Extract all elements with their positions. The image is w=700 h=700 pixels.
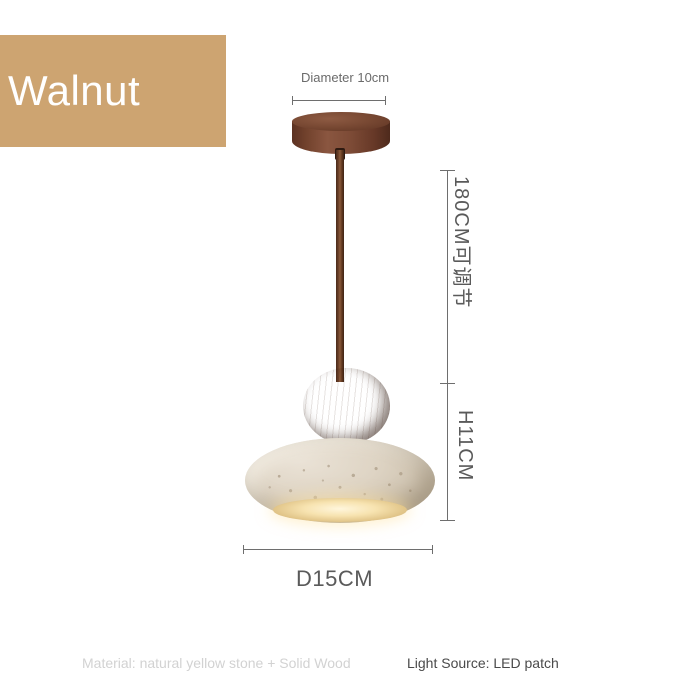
finish-banner-label: Walnut — [0, 70, 140, 112]
top-diameter-line — [292, 100, 385, 101]
top-diameter-label: Diameter 10cm — [301, 70, 389, 85]
canopy-top-face — [292, 112, 390, 131]
shade-height-tick-bottom — [440, 520, 455, 521]
top-diameter-tick-left — [292, 96, 293, 105]
light-source-caption: Light Source: LED patch — [407, 655, 559, 671]
material-caption: Material: natural yellow stone + Solid W… — [82, 655, 351, 671]
product-spec-diagram: Walnut Diameter 10cm 180CM可调节 H11CM D15C… — [0, 0, 700, 700]
cord-dimension-line — [447, 170, 448, 383]
led-light-glow — [273, 498, 407, 522]
shade-height-line — [447, 383, 448, 520]
travertine-stone-shade — [245, 438, 435, 523]
cord-dimension-tick-top — [440, 170, 455, 171]
wood-grain-texture — [303, 368, 390, 444]
shade-diameter-label: D15CM — [296, 566, 373, 592]
shade-diameter-line — [243, 549, 432, 550]
cord-dimension-label: 180CM可调节 — [449, 176, 478, 308]
top-diameter-tick-right — [385, 96, 386, 105]
shade-diameter-tick-right — [432, 545, 433, 554]
shade-height-label: H11CM — [453, 410, 476, 481]
shade-diameter-tick-left — [243, 545, 244, 554]
finish-banner: Walnut — [0, 35, 226, 147]
walnut-wood-sphere — [303, 368, 390, 444]
suspension-rod — [336, 150, 344, 382]
